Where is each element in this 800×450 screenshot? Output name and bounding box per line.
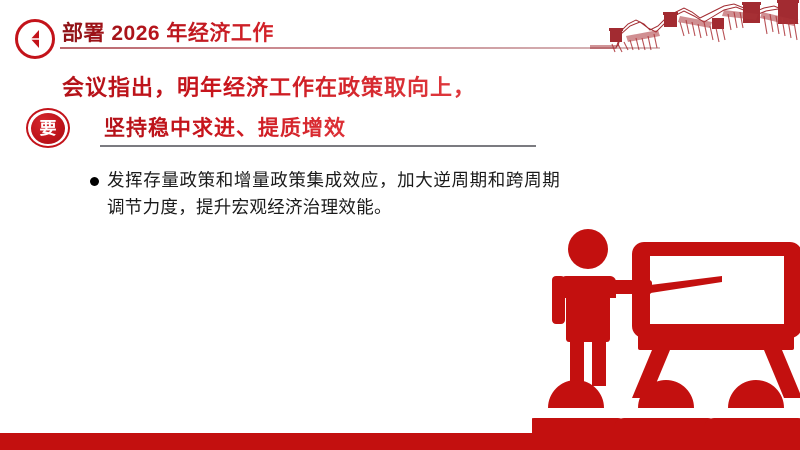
- pointer-stick: [642, 276, 722, 294]
- slide-header: 部署 2026 年经济工作: [0, 0, 800, 58]
- back-chevron-icon[interactable]: [15, 19, 55, 59]
- great-wall-illustration: [588, 0, 800, 56]
- slide-root: 部署 2026 年经济工作: [0, 0, 800, 450]
- section-heading: 坚持稳中求进、提质增效: [104, 112, 346, 142]
- bullet-list: 发挥存量政策和增量政策集成效应，加大逆周期和跨周期调节力度，提升宏观经济治理效能…: [90, 168, 560, 222]
- lead-line-text: 会议指出，明年经济工作在政策取向上，: [62, 70, 476, 102]
- list-item: 发挥存量政策和增量政策集成效应，加大逆周期和跨周期调节力度，提升宏观经济治理效能…: [90, 168, 560, 222]
- bullet-dot-icon: [90, 177, 99, 186]
- classroom-presentation-icon: [532, 222, 800, 450]
- audience-head-3: [728, 380, 784, 408]
- presenter-head: [568, 229, 608, 269]
- bullet-item-text: 发挥存量政策和增量政策集成效应，加大逆周期和跨周期调节力度，提升宏观经济治理效能…: [107, 168, 560, 222]
- easel-tray: [638, 334, 794, 350]
- yao-badge-label: 要: [31, 113, 65, 144]
- page-title: 部署 2026 年经济工作: [62, 17, 274, 47]
- presenter-left-arm: [552, 276, 565, 324]
- footer-bar: [0, 433, 800, 450]
- yao-circle-badge: 要: [26, 108, 70, 148]
- section-heading-divider: [100, 145, 536, 147]
- presenter-right-leg: [592, 340, 606, 386]
- presenter-left-leg: [570, 340, 584, 386]
- header-divider: [60, 47, 660, 49]
- presenter-torso: [566, 292, 610, 342]
